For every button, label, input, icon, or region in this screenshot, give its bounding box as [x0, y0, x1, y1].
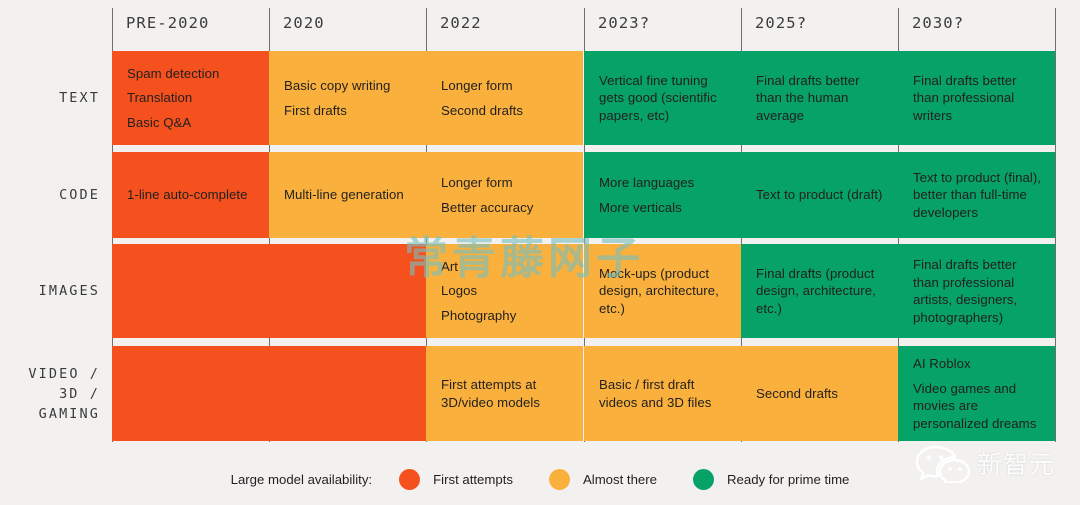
cell-text: Vertical fine tuning gets good (scientif…: [599, 72, 727, 125]
cell-r3-c6: Final drafts better than professional ar…: [898, 244, 1055, 338]
cell-text: Longer form: [441, 174, 569, 192]
cell-text: Final drafts better than professional wr…: [913, 72, 1041, 125]
cell-r3-c5: Final drafts (product design, architectu…: [741, 244, 898, 338]
row-label-images: IMAGES: [4, 281, 100, 301]
cell-text: AI Roblox: [913, 355, 1041, 373]
legend-item-red: First attempts: [399, 469, 513, 490]
cell-text: Mock-ups (product design, architecture, …: [599, 265, 727, 318]
cell-text: Text to product (final), better than ful…: [913, 169, 1041, 222]
cell-text: Final drafts better than the human avera…: [756, 72, 884, 125]
cell-r4-c2: [269, 346, 426, 441]
cell-text: Photography: [441, 307, 569, 325]
cell-text: Longer form: [441, 77, 569, 95]
cell-r1-c5: Final drafts better than the human avera…: [741, 51, 898, 145]
cell-r4-c3: First attempts at 3D/video models: [426, 346, 583, 441]
cell-text: Translation: [127, 89, 255, 107]
cell-text: Basic Q&A: [127, 114, 255, 132]
row-label-line: CODE: [4, 185, 100, 205]
cell-text: Logos: [441, 282, 569, 300]
cell-text: Basic / first draft videos and 3D files: [599, 376, 727, 411]
cell-text: More verticals: [599, 199, 727, 217]
cell-r2-c3: Longer formBetter accuracy: [426, 152, 583, 238]
column-divider: [1055, 8, 1056, 442]
cell-text: Multi-line generation: [284, 186, 412, 204]
column-header-6: 2030?: [912, 14, 964, 32]
cell-r1-c6: Final drafts better than professional wr…: [898, 51, 1055, 145]
column-header-1: PRE-2020: [126, 14, 209, 32]
cell-r2-c6: Text to product (final), better than ful…: [898, 152, 1055, 238]
cell-text: Second drafts: [441, 102, 569, 120]
legend-label-red: First attempts: [433, 472, 513, 487]
legend-swatch-amber: [549, 469, 570, 490]
row-label-video-3d-gaming: VIDEO /3D /GAMING: [4, 364, 100, 424]
legend-items: First attemptsAlmost thereReady for prim…: [399, 469, 849, 490]
cell-text: More languages: [599, 174, 727, 192]
timeline-grid: PRE-2020202020222023?2025?2030? TEXTCODE…: [0, 0, 1080, 448]
ai-capability-timeline-chart: PRE-2020202020222023?2025?2030? TEXTCODE…: [0, 0, 1080, 505]
cell-r2-c4: More languagesMore verticals: [584, 152, 741, 238]
cell-text: Spam detection: [127, 65, 255, 83]
cell-r3-c3: ArtLogosPhotography: [426, 244, 583, 338]
cell-r4-c5: Second drafts: [741, 346, 898, 441]
legend-label-amber: Almost there: [583, 472, 657, 487]
cell-text: Second drafts: [756, 385, 884, 403]
column-header-5: 2025?: [755, 14, 807, 32]
cell-text: First attempts at 3D/video models: [441, 376, 569, 411]
cell-text: Art: [441, 258, 569, 276]
row-label-line: GAMING: [4, 404, 100, 424]
cell-r2-c1: 1-line auto-complete: [112, 152, 269, 238]
column-header-2: 2020: [283, 14, 325, 32]
cell-r1-c3: Longer formSecond drafts: [426, 51, 583, 145]
cell-r3-c4: Mock-ups (product design, architecture, …: [584, 244, 741, 338]
cell-text: Video games and movies are personalized …: [913, 380, 1041, 433]
row-label-line: TEXT: [4, 88, 100, 108]
cell-r2-c2: Multi-line generation: [269, 152, 426, 238]
column-header-3: 2022: [440, 14, 482, 32]
row-label-text: TEXT: [4, 88, 100, 108]
legend-item-amber: Almost there: [549, 469, 657, 490]
cell-text: Final drafts (product design, architectu…: [756, 265, 884, 318]
legend-label-green: Ready for prime time: [727, 472, 849, 487]
column-header-4: 2023?: [598, 14, 650, 32]
cell-r2-c5: Text to product (draft): [741, 152, 898, 238]
cell-r1-c1: Spam detectionTranslationBasic Q&A: [112, 51, 269, 145]
cell-r3-c1: [112, 244, 269, 338]
legend-title: Large model availability:: [231, 472, 372, 487]
cell-text: Better accuracy: [441, 199, 569, 217]
cell-r4-c4: Basic / first draft videos and 3D files: [584, 346, 741, 441]
cell-text: 1-line auto-complete: [127, 186, 255, 204]
cell-text: Final drafts better than professional ar…: [913, 256, 1041, 326]
cell-r1-c4: Vertical fine tuning gets good (scientif…: [584, 51, 741, 145]
row-label-line: 3D /: [4, 384, 100, 404]
cell-r4-c6: AI RobloxVideo games and movies are pers…: [898, 346, 1055, 441]
cell-r4-c1: [112, 346, 269, 441]
row-label-line: VIDEO /: [4, 364, 100, 384]
cell-r1-c2: Basic copy writingFirst drafts: [269, 51, 426, 145]
legend-swatch-green: [693, 469, 714, 490]
row-label-code: CODE: [4, 185, 100, 205]
legend-swatch-red: [399, 469, 420, 490]
row-label-line: IMAGES: [4, 281, 100, 301]
cell-text: Basic copy writing: [284, 77, 412, 95]
cell-text: Text to product (draft): [756, 186, 884, 204]
cell-text: First drafts: [284, 102, 412, 120]
cell-r3-c2: [269, 244, 426, 338]
legend: Large model availability: First attempts…: [0, 462, 1080, 496]
legend-item-green: Ready for prime time: [693, 469, 849, 490]
